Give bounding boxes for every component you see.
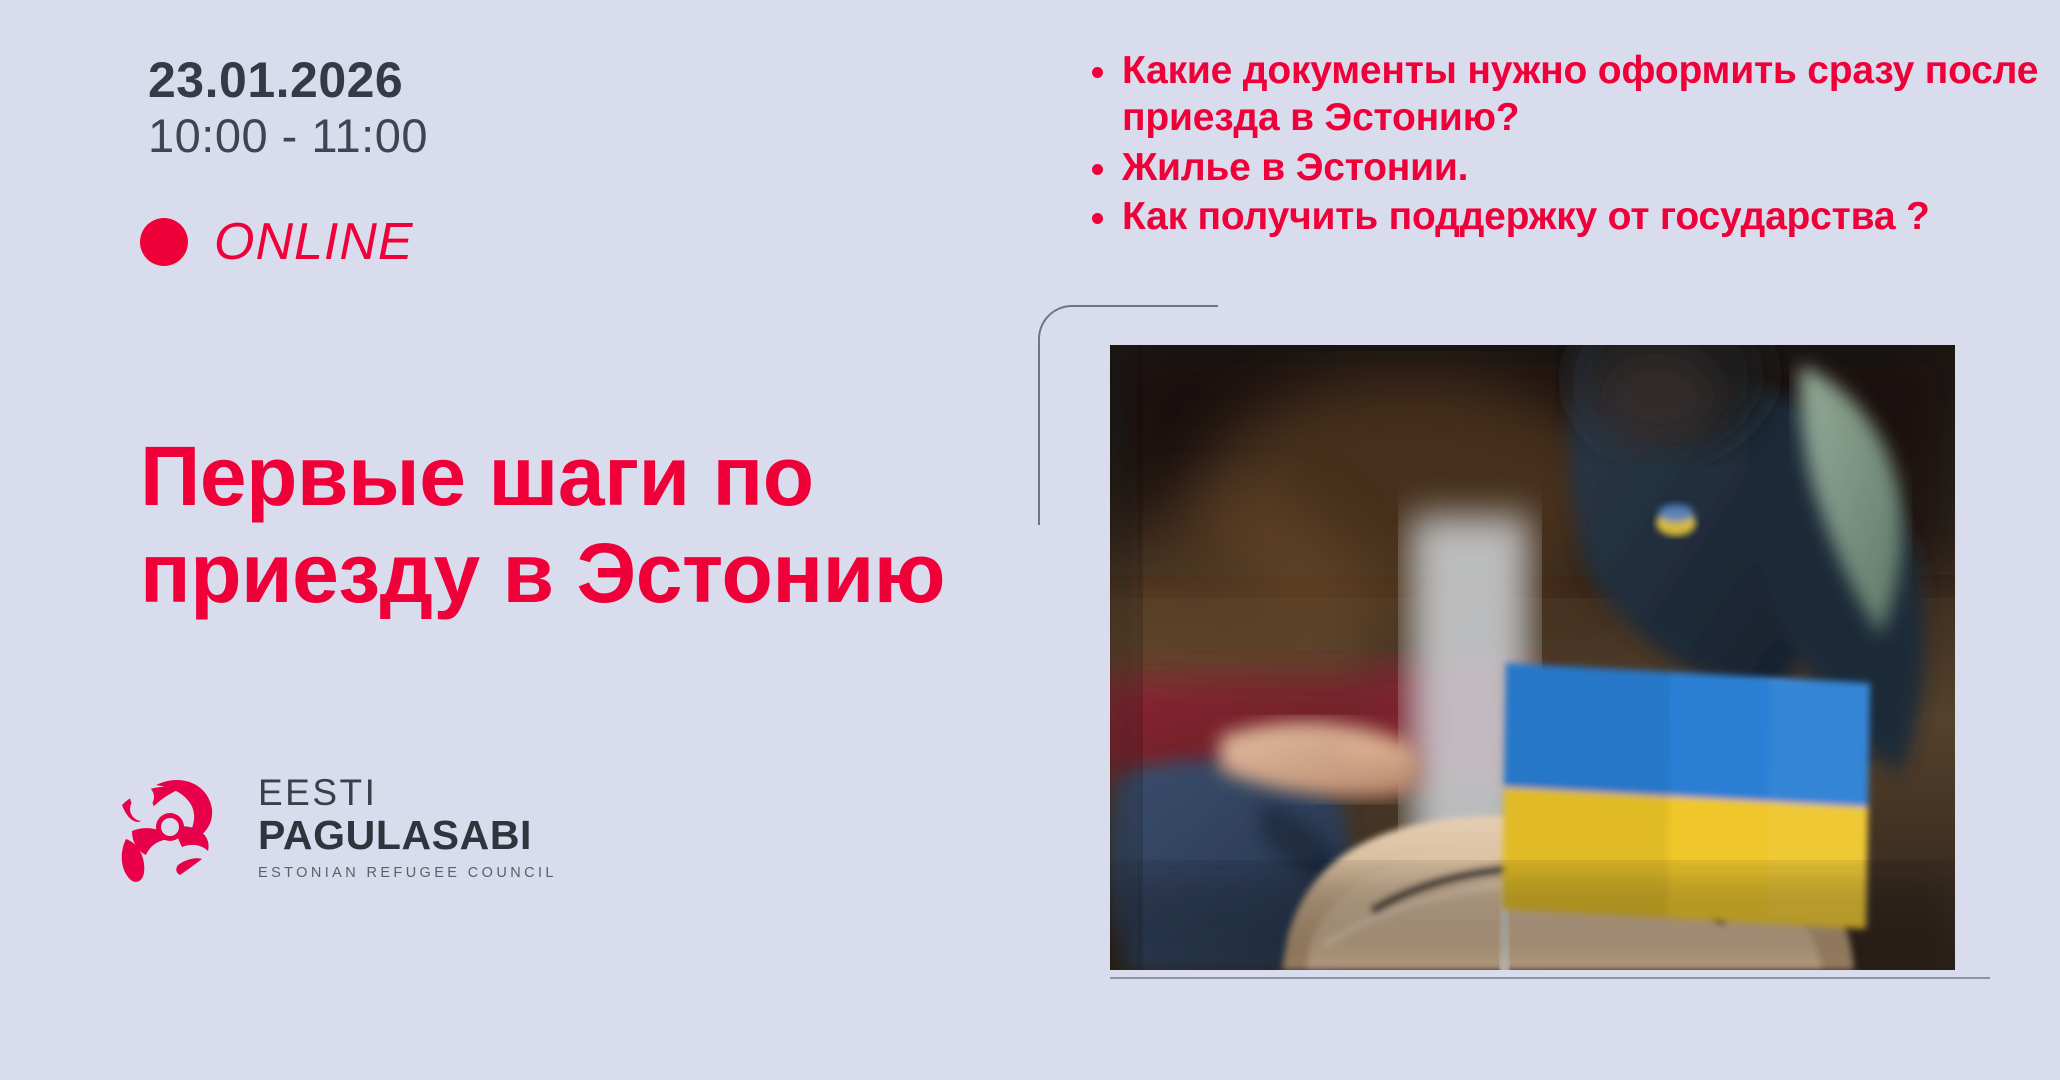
list-item: Как получить поддержку от государства ? [1080, 194, 2060, 241]
eesti-pagulasabi-mark-icon [112, 765, 236, 889]
logo-subtitle: ESTONIAN REFUGEE COUNCIL [258, 866, 557, 881]
page-title: Первые шаги по приезду в Эстонию [140, 428, 1040, 623]
event-date: 23.01.2026 [148, 52, 428, 108]
frame-bottom-rule [1110, 977, 1990, 979]
event-photo [1110, 345, 1955, 970]
online-dot-icon [140, 218, 188, 266]
event-time: 10:00 - 11:00 [148, 108, 428, 163]
event-format-badge: ONLINE [140, 212, 414, 272]
organization-logo: EESTI PAGULASABI ESTONIAN REFUGEE COUNCI… [112, 765, 557, 889]
event-datetime-block: 23.01.2026 10:00 - 11:00 [148, 52, 428, 163]
logo-line-pagulasabi: PAGULASABI [258, 813, 557, 859]
organization-logo-wordmark: EESTI PAGULASABI ESTONIAN REFUGEE COUNCI… [258, 774, 557, 880]
event-format-label: ONLINE [214, 212, 414, 272]
poster-left-column: 23.01.2026 10:00 - 11:00 ONLINE Первые ш… [0, 0, 1060, 1080]
agenda-list: Какие документы нужно оформить сразу пос… [1080, 48, 2060, 244]
event-poster: 23.01.2026 10:00 - 11:00 ONLINE Первые ш… [0, 0, 2060, 1080]
list-item: Какие документы нужно оформить сразу пос… [1080, 48, 2060, 142]
logo-line-eesti: EESTI [258, 774, 557, 811]
list-item: Жилье в Эстонии. [1080, 145, 2060, 192]
